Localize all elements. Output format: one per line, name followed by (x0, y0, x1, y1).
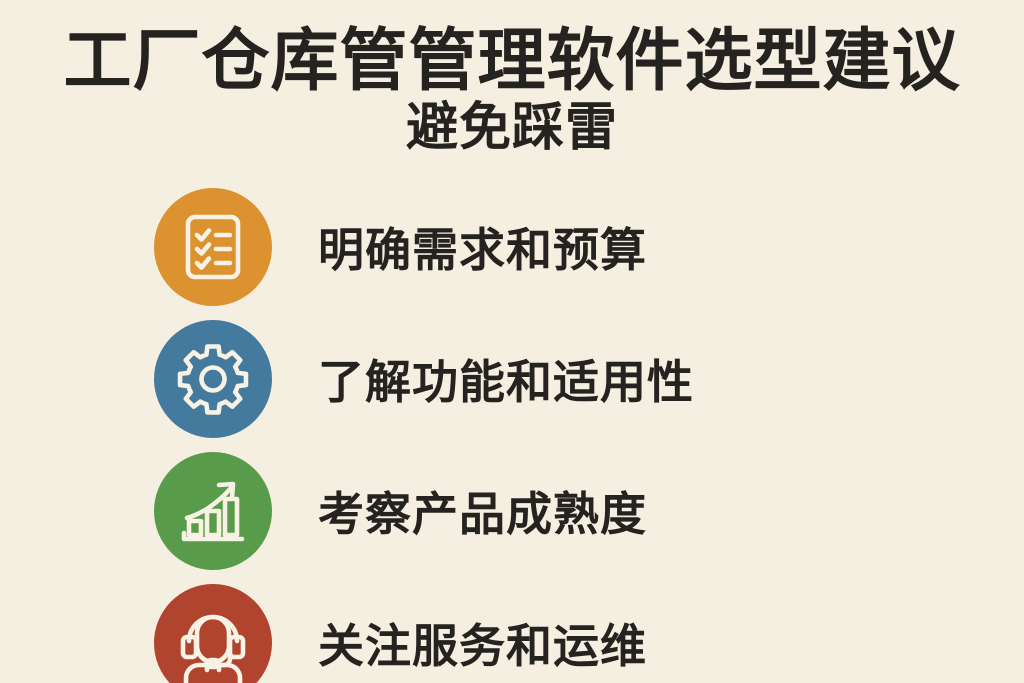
page-title: 工厂仓库管管理软件选型建议 (0, 0, 1024, 97)
checklist-clipboard-icon (154, 188, 272, 306)
tips-list: 明确需求和预算 了解功能和适用性 (0, 181, 1024, 683)
headset-support-agent-icon (154, 584, 272, 683)
page-subtitle: 避免踩雷 (0, 97, 1024, 156)
gear-icon (154, 320, 272, 438)
list-item: 明确需求和预算 (0, 181, 1024, 313)
poster-header: 工厂仓库管管理软件选型建议 避免踩雷 (0, 0, 1024, 155)
list-item-label: 了解功能和适用性 (318, 346, 694, 412)
growth-bar-chart-icon (154, 452, 272, 570)
list-item-label: 考察产品成熟度 (318, 478, 647, 544)
list-item-label: 明确需求和预算 (318, 214, 647, 280)
list-item: 了解功能和适用性 (0, 313, 1024, 445)
infographic-poster: 工厂仓库管管理软件选型建议 避免踩雷 明确需求和预算 (0, 0, 1024, 683)
list-item: 考察产品成熟度 (0, 445, 1024, 577)
list-item: 关注服务和运维 (0, 577, 1024, 683)
list-item-label: 关注服务和运维 (318, 610, 647, 676)
